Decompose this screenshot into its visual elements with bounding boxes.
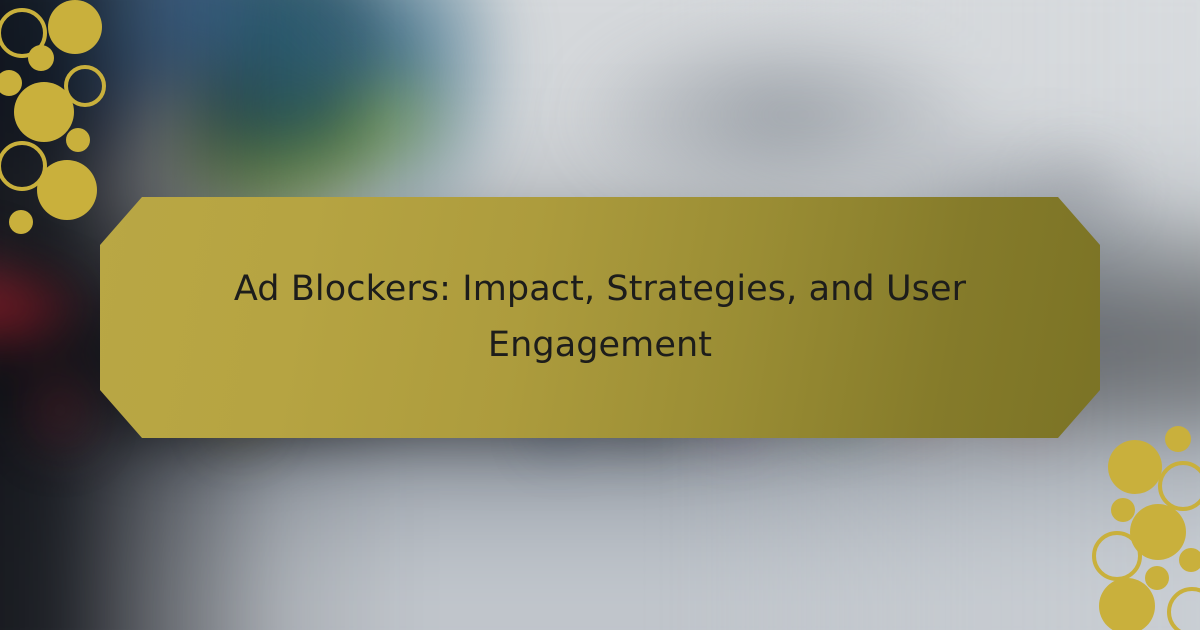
title-banner: Ad Blockers: Impact, Strategies, and Use… <box>100 197 1100 438</box>
social-card: Ad Blockers: Impact, Strategies, and Use… <box>0 0 1200 630</box>
page-title: Ad Blockers: Impact, Strategies, and Use… <box>220 262 980 373</box>
